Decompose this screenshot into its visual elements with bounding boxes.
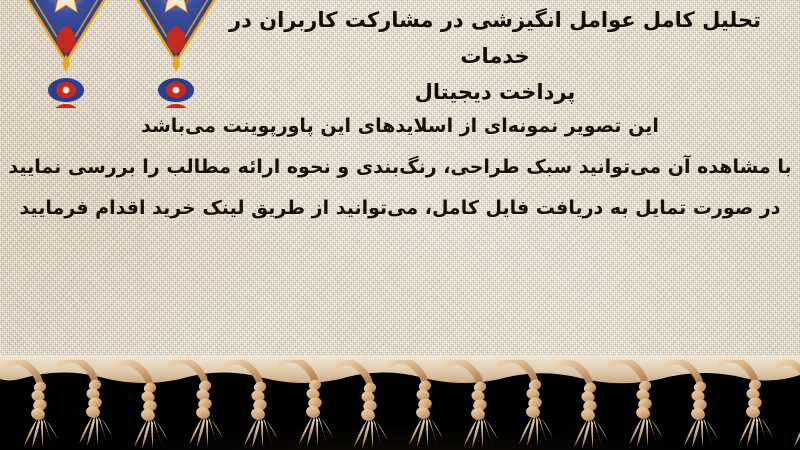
slide-title: تحلیل کامل عوامل انگیزشی در مشارکت کاربر… (204, 2, 786, 110)
presentation-slide: تحلیل کامل عوامل انگیزشی در مشارکت کاربر… (0, 0, 800, 450)
slide-body-line-3: در صورت تمایل به دریافت فایل کامل، می‌تو… (0, 188, 800, 229)
slide-body: این تصویر نمونه‌ای از اسلایدهای این پاور… (0, 106, 800, 229)
slide-body-line-2: با مشاهده آن می‌توانید سبک طراحی، رنگ‌بن… (0, 147, 800, 188)
black-backdrop-band (0, 368, 800, 450)
carpet-medallion-left-icon (18, 0, 114, 112)
slide-title-line-2: پرداخت دیجیتال (204, 74, 786, 110)
slide-body-line-1: این تصویر نمونه‌ای از اسلایدهای این پاور… (0, 106, 800, 147)
slide-title-line-1: تحلیل کامل عوامل انگیزشی در مشارکت کاربر… (204, 2, 786, 74)
